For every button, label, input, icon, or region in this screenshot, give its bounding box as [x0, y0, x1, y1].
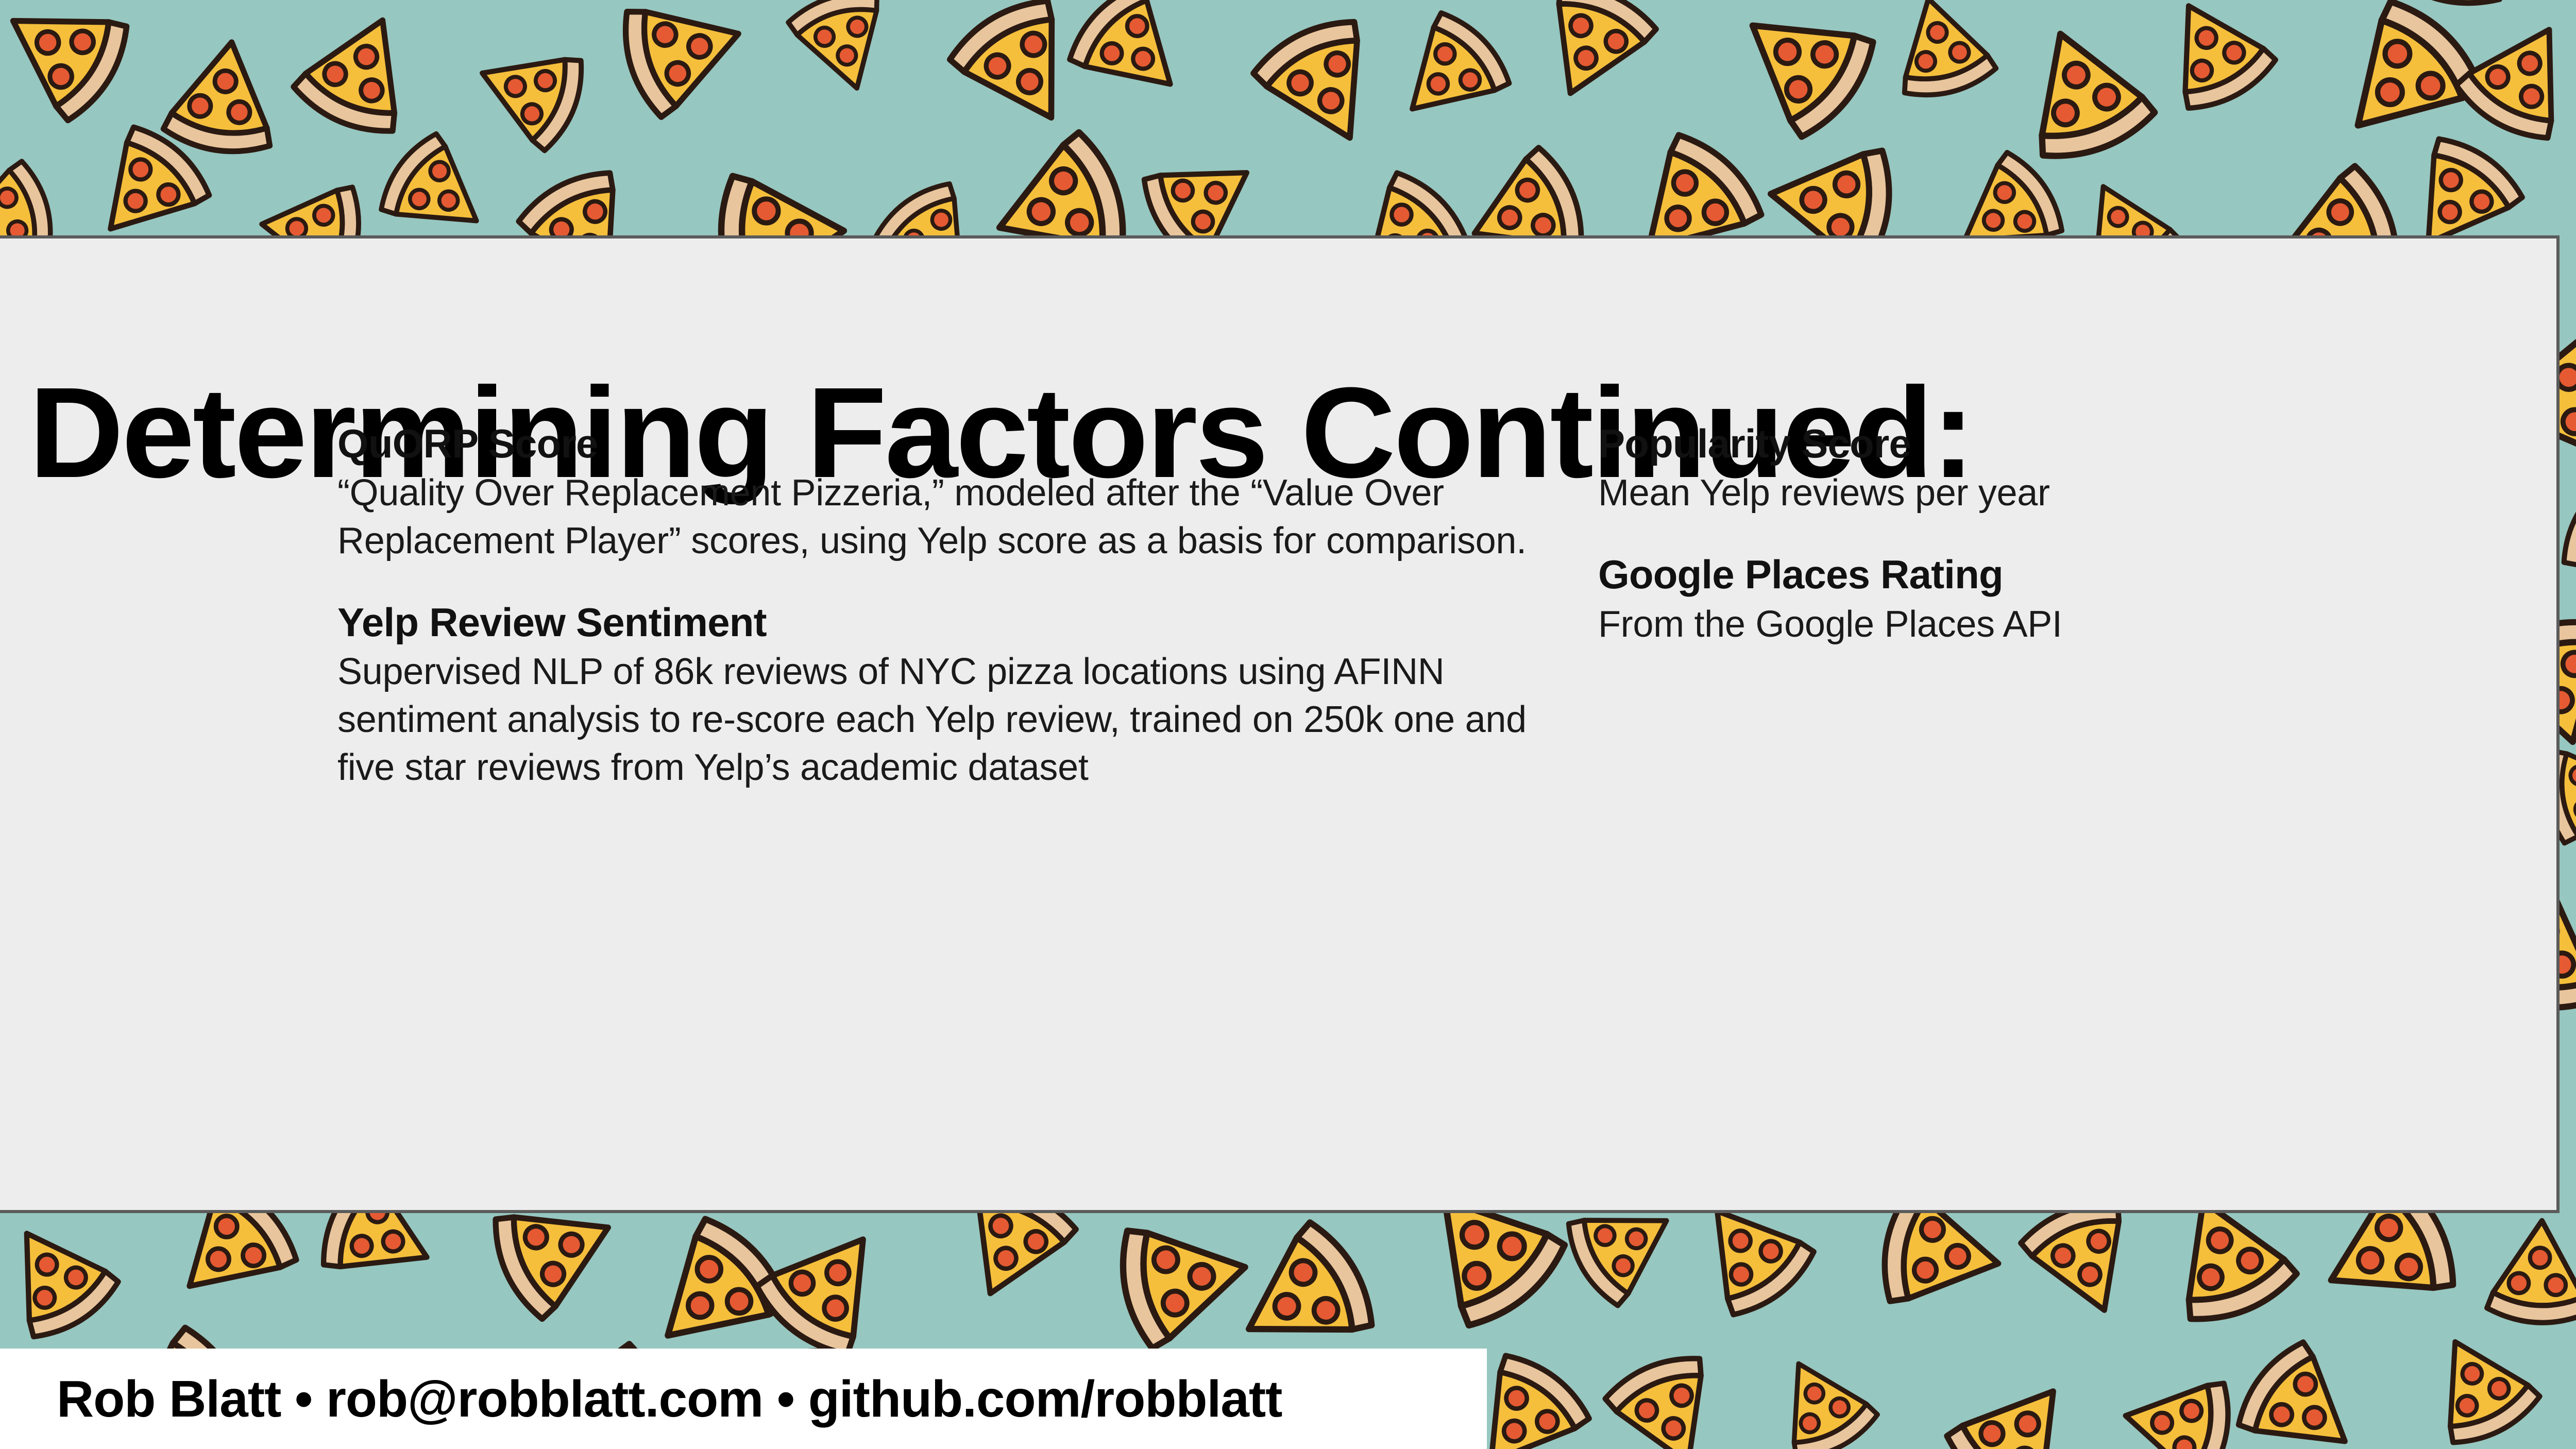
factor-body-yelp-review-sentiment: Supervised NLP of 86k reviews of NYC piz…: [337, 648, 1584, 792]
pizza-slice-icon: [2452, 8, 2576, 147]
pizza-slice-icon: [2004, 14, 2162, 172]
factor-body-google-places-rating: From the Google Places API: [1598, 601, 2474, 649]
pizza-slice-icon: [2473, 1207, 2576, 1340]
factors-column-right: Popularity Score Mean Yelp reviews per y…: [1598, 421, 2474, 648]
pizza-slice-icon: [2572, 1358, 2576, 1449]
pizza-slice-icon: [1724, 0, 1880, 141]
presentation-slide: Determining Factors Continued: QuORP Sco…: [0, 0, 2576, 1449]
factor-block-quorp-score: QuORP Score “Quality Over Replacement Pi…: [337, 421, 1584, 565]
factor-heading-yelp-review-sentiment: Yelp Review Sentiment: [337, 600, 1584, 645]
slide-content-panel: Determining Factors Continued: QuORP Sco…: [0, 235, 2560, 1213]
factor-block-popularity-score: Popularity Score Mean Yelp reviews per y…: [1598, 421, 2474, 517]
pizza-slice-icon: [1943, 1364, 2091, 1449]
footer-credit-bar: Rob Blatt • rob@robblatt.com • github.co…: [0, 1349, 1487, 1449]
pizza-slice-icon: [782, 0, 904, 103]
footer-credit-text: Rob Blatt • rob@robblatt.com • github.co…: [57, 1373, 1282, 1425]
pizza-slice-icon: [1065, 0, 1198, 114]
factor-heading-popularity-score: Popularity Score: [1598, 421, 2474, 466]
factor-body-quorp-score: “Quality Over Replacement Pizzeria,” mod…: [337, 469, 1584, 565]
pizza-slice-icon: [288, 1, 431, 144]
pizza-slice-icon: [1879, 0, 2004, 109]
pizza-slice-icon: [2232, 1338, 2370, 1449]
pizza-slice-icon: [2415, 1323, 2544, 1449]
factor-body-popularity-score: Mean Yelp reviews per year: [1598, 469, 2474, 517]
factors-column-left: QuORP Score “Quality Over Replacement Pi…: [337, 421, 1584, 792]
pizza-slice-icon: [2148, 0, 2280, 117]
pizza-slice-icon: [1600, 1346, 1735, 1449]
factors-columns: QuORP Score “Quality Over Replacement Pi…: [0, 421, 2556, 1143]
factor-heading-quorp-score: QuORP Score: [337, 421, 1584, 466]
factor-block-yelp-review-sentiment: Yelp Review Sentiment Supervised NLP of …: [337, 600, 1584, 792]
pizza-slice-icon: [1385, 9, 1514, 138]
factor-block-google-places-rating: Google Places Rating From the Google Pla…: [1598, 552, 2474, 648]
pizza-slice-icon: [1524, 0, 1662, 112]
pizza-slice-icon: [1761, 1346, 1882, 1449]
pizza-slice-icon: [0, 0, 135, 125]
pizza-slice-icon: [2111, 1359, 2244, 1449]
pizza-slice-icon: [1248, 10, 1397, 159]
pizza-slice-icon: [610, 0, 756, 125]
factor-heading-google-places-rating: Google Places Rating: [1598, 552, 2474, 597]
